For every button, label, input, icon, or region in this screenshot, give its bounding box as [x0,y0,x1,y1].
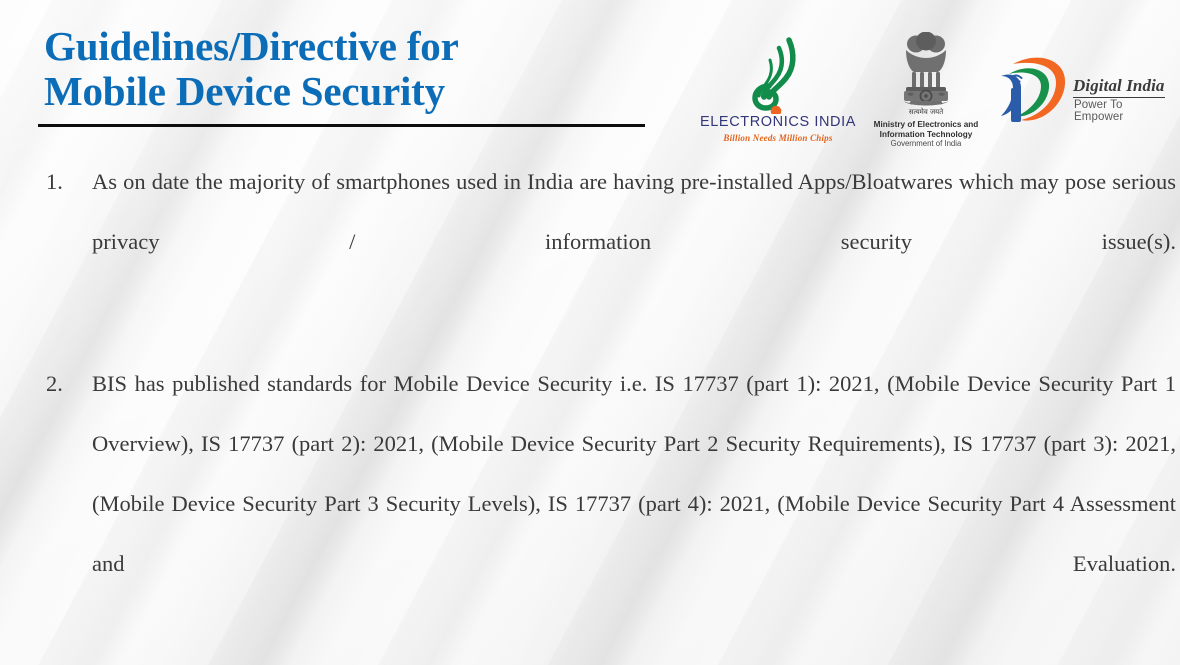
electronics-india-logo: ELECTRONICS INDIA Billion Needs Million … [698,34,858,146]
meity-ministry-line1: Ministry of Electronics and [866,120,986,130]
slide-content: Guidelines/Directive for Mobile Device S… [0,0,1180,665]
list-item-number: 1. [46,152,86,212]
title-divider-rule [38,124,645,127]
meity-ministry-line2: Information Technology [866,130,986,140]
digital-india-swoosh-icon [995,54,1071,131]
digital-india-tagline: Power To Empower [1074,99,1170,123]
list-item-text: BIS has published standards for Mobile D… [92,354,1176,654]
ashoka-emblem-icon [894,32,958,115]
list-item: 1. As on date the majority of smartphone… [0,152,1180,332]
title-block: Guidelines/Directive for Mobile Device S… [44,24,664,114]
meity-government-line: Government of India [866,139,986,148]
electronics-india-tagline: Billion Needs Million Chips [698,133,858,143]
page-title: Guidelines/Directive for Mobile Device S… [44,24,664,114]
electronics-india-name: ELECTRONICS INDIA [698,114,858,130]
digital-india-logo: Digital India Power To Empower [995,54,1170,132]
logo-strip: ELECTRONICS INDIA Billion Needs Million … [690,26,1170,144]
guidelines-list: 1. As on date the majority of smartphone… [0,152,1180,665]
electronics-india-flame-icon [748,34,810,119]
slide-canvas: Guidelines/Directive for Mobile Device S… [0,0,1180,665]
list-item-text: As on date the majority of smartphones u… [92,152,1176,332]
slide-header: Guidelines/Directive for Mobile Device S… [0,0,1180,140]
meity-motto: सत्यमेव जयते [866,108,986,117]
list-item-number: 2. [46,354,86,414]
meity-logo: सत्यमेव जयते Ministry of Electronics and… [866,30,986,146]
list-item: 2. BIS has published standards for Mobil… [0,354,1180,654]
digital-india-name: Digital India [1073,76,1165,98]
